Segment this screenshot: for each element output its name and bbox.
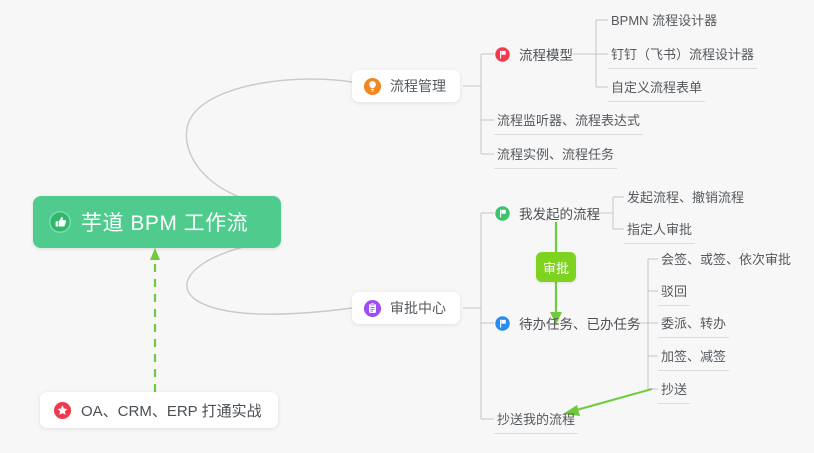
leaf-bpmn-designer[interactable]: BPMN 流程设计器 — [608, 12, 720, 34]
topic-my-started-processes-label: 我发起的流程 — [519, 203, 600, 223]
leaf-cc[interactable]: 抄送 — [658, 381, 690, 404]
approval-pill[interactable]: 审批 — [536, 252, 576, 282]
leaf-cc-to-me-processes[interactable]: 抄送我的流程 — [494, 411, 578, 434]
link-root-to-approval-center — [187, 240, 352, 314]
branch-process-management-label: 流程管理 — [390, 76, 446, 96]
thumbs-up-icon — [48, 210, 72, 234]
bottom-card-integration[interactable]: OA、CRM、ERP 打通实战 — [40, 392, 278, 428]
mindmap-canvas: 芋道 BPM 工作流 OA、CRM、ERP 打通实战 流程管理 — [0, 0, 814, 453]
root-node[interactable]: 芋道 BPM 工作流 — [33, 196, 281, 248]
leaf-reject[interactable]: 驳回 — [658, 283, 690, 306]
leaf-add-remove-sign[interactable]: 加签、减签 — [658, 348, 729, 371]
leaf-process-instance-task[interactable]: 流程实例、流程任务 — [494, 146, 617, 169]
link-root-to-process-management — [186, 79, 352, 206]
branch-approval-center[interactable]: 审批中心 — [352, 292, 460, 324]
bottom-card-label: OA、CRM、ERP 打通实战 — [81, 400, 262, 421]
leaf-assignee-approval[interactable]: 指定人审批 — [624, 221, 695, 244]
branch-approval-center-label: 审批中心 — [390, 298, 446, 318]
leaf-process-listener-expression[interactable]: 流程监听器、流程表达式 — [494, 112, 643, 135]
leaf-dingtalk-feishu-designer[interactable]: 钉钉（飞书）流程设计器 — [608, 46, 757, 69]
root-label: 芋道 BPM 工作流 — [81, 207, 248, 237]
branch-process-management[interactable]: 流程管理 — [352, 70, 460, 102]
topic-my-started-processes[interactable]: 我发起的流程 — [494, 201, 600, 225]
topic-todo-done-tasks-label: 待办任务、已办任务 — [519, 313, 641, 333]
flag-icon — [494, 205, 511, 222]
topic-process-model-label: 流程模型 — [519, 44, 573, 64]
flag-icon — [494, 315, 511, 332]
arrow-bottom-card-to-root — [150, 248, 160, 392]
leaf-start-cancel-process[interactable]: 发起流程、撤销流程 — [624, 189, 747, 211]
clipboard-icon — [363, 299, 382, 318]
topic-todo-done-tasks[interactable]: 待办任务、已办任务 — [494, 311, 641, 335]
leaf-delegate-transfer[interactable]: 委派、转办 — [658, 315, 729, 338]
star-icon — [53, 401, 72, 420]
topic-process-model[interactable]: 流程模型 — [494, 42, 573, 66]
leaf-countersign-orsign-sequential[interactable]: 会签、或签、依次审批 — [658, 251, 794, 273]
flag-icon — [494, 46, 511, 63]
leaf-custom-process-form[interactable]: 自定义流程表单 — [608, 79, 705, 102]
lightbulb-icon — [363, 77, 382, 96]
